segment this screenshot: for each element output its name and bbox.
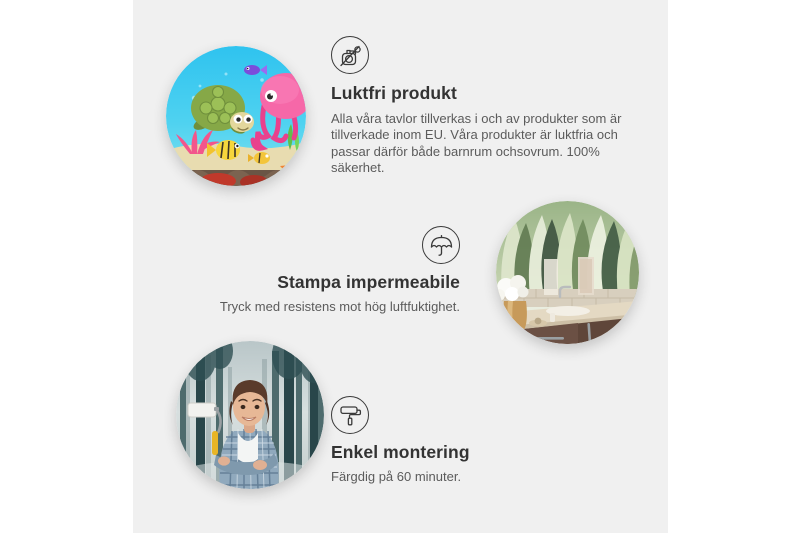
photo-bathroom [496,201,639,344]
umbrella-icon [422,226,460,264]
feature-block-easy-mounting: Enkel montering Färgdig på 60 minuter. [331,396,621,485]
feature-title: Enkel montering [331,442,621,464]
feature-description: Tryck med resistens mot hög luftfuktighe… [160,299,460,315]
feature-block-odour-free: Luktfri produkt Alla våra tavlor tillver… [331,36,631,177]
feature-block-waterproof: Stampa impermeabile Tryck med resistens … [160,226,460,315]
paint-roller-icon [331,396,369,434]
feature-description: Alla våra tavlor tillverkas i och av pro… [331,111,631,177]
no-perfume-icon [331,36,369,74]
feature-title: Luktfri produkt [331,83,631,105]
photo-underwater [166,46,306,186]
feature-title: Stampa impermeabile [160,272,460,294]
feature-banner: Luktfri produkt Alla våra tavlor tillver… [0,0,800,533]
photo-forest [176,341,324,489]
feature-description: Färgdig på 60 minuter. [331,469,621,485]
